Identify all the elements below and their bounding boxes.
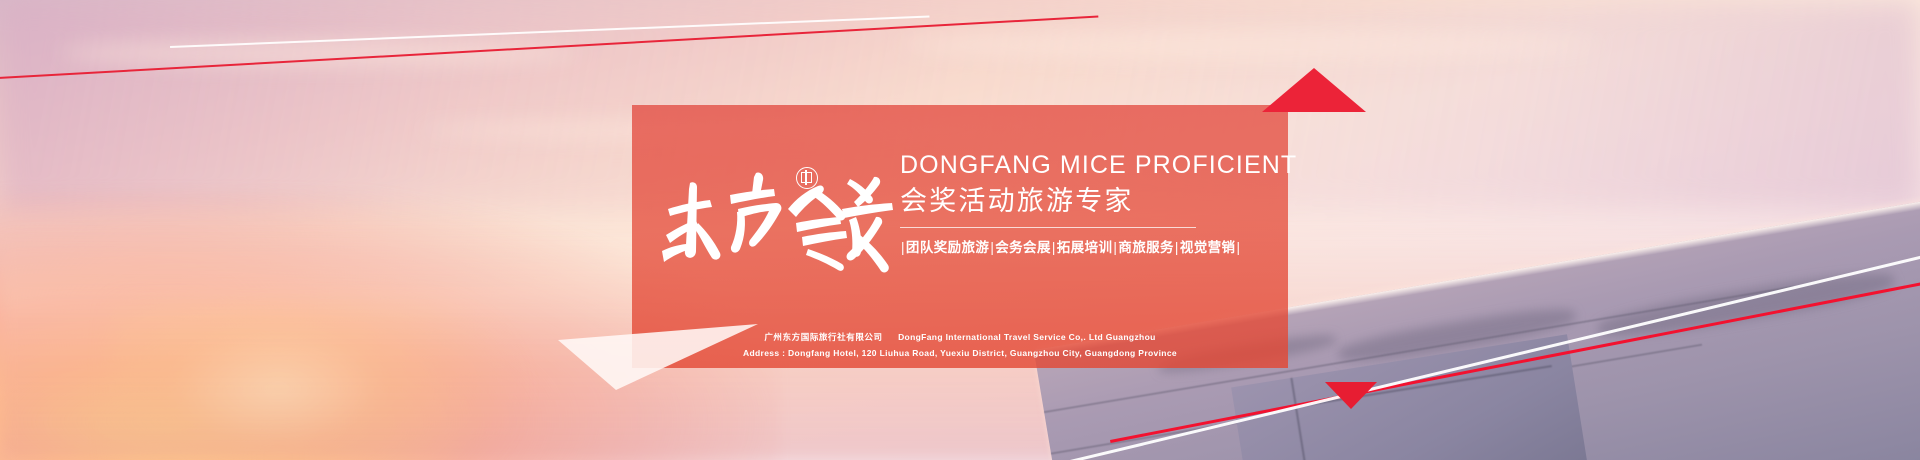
company-name-english: DongFang International Travel Service Co…	[898, 332, 1156, 342]
brand-text-block: DONGFANG MICE PROFICIENT 会奖活动旅游专家 |团队奖励旅…	[900, 150, 1280, 256]
service-item: 会务会展	[995, 240, 1051, 255]
wing-flap-line	[1290, 378, 1312, 460]
cloud-streak	[60, 40, 580, 66]
service-separator: |	[1236, 240, 1240, 255]
red-triangle-down-icon	[1325, 382, 1377, 409]
title-english: DONGFANG MICE PROFICIENT	[900, 150, 1280, 180]
promo-banner: DONGFANG MICE PROFICIENT 会奖活动旅游专家 |团队奖励旅…	[0, 0, 1920, 460]
footer-block: 广州东方国际旅行社有限公司 DongFang International Tra…	[632, 330, 1288, 360]
service-separator: |	[1052, 240, 1056, 255]
service-item: 视觉营销	[1180, 240, 1236, 255]
wing-smudge	[1596, 265, 1897, 344]
red-triangle-up-icon	[1262, 68, 1366, 112]
brand-logo	[660, 165, 895, 275]
company-name-chinese: 广州东方国际旅行社有限公司	[764, 332, 882, 342]
service-separator: |	[990, 240, 994, 255]
service-item: 商旅服务	[1118, 240, 1174, 255]
seal-stamp-icon	[796, 167, 818, 189]
service-list: |团队奖励旅游|会务会展|拓展培训|商旅服务|视觉营销|	[900, 236, 1280, 256]
divider-rule	[900, 227, 1196, 228]
calligraphy-logo-icon	[660, 165, 895, 275]
company-address: Address : Dongfang Hotel, 120 Liuhua Roa…	[632, 346, 1288, 360]
service-separator: |	[901, 240, 905, 255]
service-item: 团队奖励旅游	[906, 240, 989, 255]
title-chinese: 会奖活动旅游专家	[900, 182, 1280, 220]
company-name-line: 广州东方国际旅行社有限公司 DongFang International Tra…	[632, 330, 1288, 344]
service-separator: |	[1113, 240, 1117, 255]
service-separator: |	[1175, 240, 1179, 255]
service-item: 拓展培训	[1057, 240, 1113, 255]
cloud-streak	[900, 30, 1600, 60]
